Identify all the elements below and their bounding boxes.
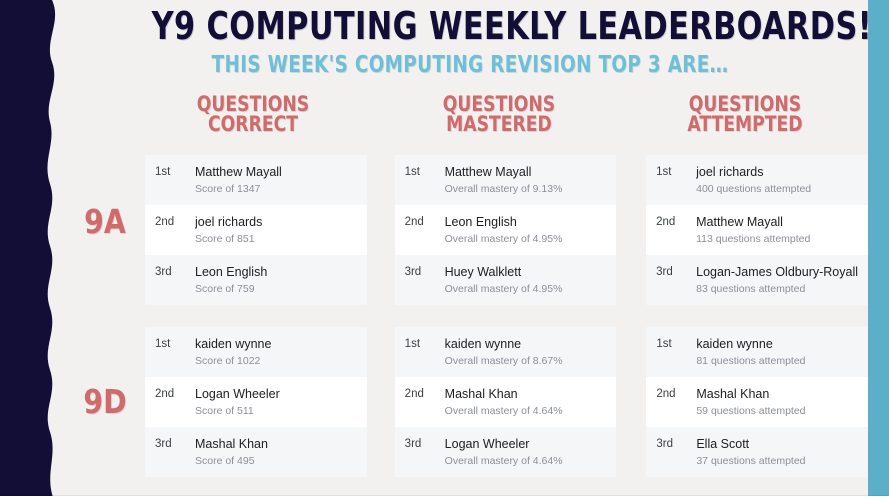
column-header-questions-mastered: QUESTIONS MASTERED bbox=[398, 94, 600, 135]
rank: 3rd bbox=[656, 436, 696, 452]
entry: Matthew Mayall Overall mastery of 9.13% bbox=[445, 164, 607, 196]
entry: kaiden wynne Overall mastery of 8.67% bbox=[445, 336, 607, 368]
student-metric: Score of 759 bbox=[195, 282, 357, 296]
student-metric: Overall mastery of 4.95% bbox=[445, 282, 607, 296]
entry: Leon English Score of 759 bbox=[195, 264, 357, 296]
rank: 1st bbox=[405, 164, 445, 180]
column-header-line2: ATTEMPTED bbox=[644, 114, 846, 135]
student-name: Logan-James Oldbury-Royall bbox=[696, 264, 858, 280]
table-row[interactable]: 2nd Matthew Mayall 113 questions attempt… bbox=[646, 205, 868, 255]
student-name: joel richards bbox=[696, 164, 858, 180]
column-header-line2: MASTERED bbox=[398, 114, 600, 135]
rank: 3rd bbox=[405, 436, 445, 452]
table-row[interactable]: 3rd Mashal Khan Score of 495 bbox=[145, 427, 367, 477]
board-9d-questions-correct: 1st kaiden wynne Score of 1022 2nd Logan… bbox=[145, 327, 367, 477]
page-title: Y9 COMPUTING WEEKLY LEADERBOARDS! bbox=[152, 0, 789, 48]
rank: 1st bbox=[405, 336, 445, 352]
student-metric: Overall mastery of 4.64% bbox=[445, 454, 607, 468]
student-name: Matthew Mayall bbox=[195, 164, 357, 180]
leaderboard-slide: Y9 COMPUTING WEEKLY LEADERBOARDS! THIS W… bbox=[0, 0, 889, 500]
table-row[interactable]: 3rd Ella Scott 37 questions attempted bbox=[646, 427, 868, 477]
entry: Matthew Mayall Score of 1347 bbox=[195, 164, 357, 196]
bottom-edge bbox=[0, 496, 889, 500]
table-row[interactable]: 3rd Logan Wheeler Overall mastery of 4.6… bbox=[395, 427, 617, 477]
table-row[interactable]: 1st kaiden wynne 81 questions attempted bbox=[646, 327, 868, 377]
student-metric: Score of 1347 bbox=[195, 182, 357, 196]
entry: Matthew Mayall 113 questions attempted bbox=[696, 214, 858, 246]
entry: Mashal Khan Overall mastery of 4.64% bbox=[445, 386, 607, 418]
student-metric: 81 questions attempted bbox=[696, 354, 858, 368]
wave-decoration-left bbox=[0, 0, 72, 500]
student-metric: Score of 851 bbox=[195, 232, 357, 246]
table-row[interactable]: 1st kaiden wynne Score of 1022 bbox=[145, 327, 367, 377]
rank: 2nd bbox=[656, 386, 696, 402]
title-block: Y9 COMPUTING WEEKLY LEADERBOARDS! THIS W… bbox=[72, 0, 868, 78]
student-metric: 83 questions attempted bbox=[696, 282, 858, 296]
student-metric: Score of 1022 bbox=[195, 354, 357, 368]
student-name: kaiden wynne bbox=[195, 336, 357, 352]
leaderboard-block-9a: 1st Matthew Mayall Score of 1347 2nd joe… bbox=[145, 155, 868, 305]
rank: 1st bbox=[656, 164, 696, 180]
class-label-9a: 9A bbox=[78, 205, 131, 238]
board-9a-questions-correct: 1st Matthew Mayall Score of 1347 2nd joe… bbox=[145, 155, 367, 305]
entry: joel richards 400 questions attempted bbox=[696, 164, 858, 196]
rank: 3rd bbox=[155, 436, 195, 452]
student-name: Mashal Khan bbox=[195, 436, 357, 452]
leaderboard-block-9d: 1st kaiden wynne Score of 1022 2nd Logan… bbox=[145, 327, 868, 477]
rank: 2nd bbox=[155, 386, 195, 402]
student-name: kaiden wynne bbox=[445, 336, 607, 352]
entry: kaiden wynne Score of 1022 bbox=[195, 336, 357, 368]
entry: Logan Wheeler Score of 511 bbox=[195, 386, 357, 418]
student-name: Leon English bbox=[195, 264, 357, 280]
entry: kaiden wynne 81 questions attempted bbox=[696, 336, 858, 368]
student-metric: Overall mastery of 8.67% bbox=[445, 354, 607, 368]
rank: 1st bbox=[155, 336, 195, 352]
rank: 2nd bbox=[656, 214, 696, 230]
table-row[interactable]: 2nd Mashal Khan Overall mastery of 4.64% bbox=[395, 377, 617, 427]
student-metric: Score of 511 bbox=[195, 404, 357, 418]
entry: Ella Scott 37 questions attempted bbox=[696, 436, 858, 468]
board-9a-questions-attempted: 1st joel richards 400 questions attempte… bbox=[646, 155, 868, 305]
table-row[interactable]: 1st joel richards 400 questions attempte… bbox=[646, 155, 868, 205]
student-name: Logan Wheeler bbox=[445, 436, 607, 452]
student-metric: 59 questions attempted bbox=[696, 404, 858, 418]
column-header-questions-attempted: QUESTIONS ATTEMPTED bbox=[644, 94, 846, 135]
table-row[interactable]: 3rd Logan-James Oldbury-Royall 83 questi… bbox=[646, 255, 868, 305]
student-name: Mashal Khan bbox=[445, 386, 607, 402]
student-name: Ella Scott bbox=[696, 436, 858, 452]
rank: 3rd bbox=[155, 264, 195, 280]
student-metric: 113 questions attempted bbox=[696, 232, 858, 246]
column-headers: QUESTIONS CORRECT QUESTIONS MASTERED QUE… bbox=[130, 94, 868, 135]
student-metric: Overall mastery of 4.95% bbox=[445, 232, 607, 246]
rank: 3rd bbox=[656, 264, 696, 280]
table-row[interactable]: 2nd Mashal Khan 59 questions attempted bbox=[646, 377, 868, 427]
table-row[interactable]: 2nd Logan Wheeler Score of 511 bbox=[145, 377, 367, 427]
entry: Huey Walklett Overall mastery of 4.95% bbox=[445, 264, 607, 296]
rank: 3rd bbox=[405, 264, 445, 280]
student-name: Huey Walklett bbox=[445, 264, 607, 280]
board-9a-questions-mastered: 1st Matthew Mayall Overall mastery of 9.… bbox=[395, 155, 617, 305]
page-subtitle: THIS WEEK'S COMPUTING REVISION TOP 3 ARE… bbox=[152, 48, 789, 78]
student-name: Mashal Khan bbox=[696, 386, 858, 402]
board-9d-questions-attempted: 1st kaiden wynne 81 questions attempted … bbox=[646, 327, 868, 477]
board-9d-questions-mastered: 1st kaiden wynne Overall mastery of 8.67… bbox=[395, 327, 617, 477]
column-header-questions-correct: QUESTIONS CORRECT bbox=[152, 94, 354, 135]
entry: Logan Wheeler Overall mastery of 4.64% bbox=[445, 436, 607, 468]
rank: 2nd bbox=[155, 214, 195, 230]
student-metric: Score of 495 bbox=[195, 454, 357, 468]
entry: Leon English Overall mastery of 4.95% bbox=[445, 214, 607, 246]
student-metric: Overall mastery of 4.64% bbox=[445, 404, 607, 418]
student-name: Matthew Mayall bbox=[445, 164, 607, 180]
rank: 1st bbox=[155, 164, 195, 180]
student-name: joel richards bbox=[195, 214, 357, 230]
student-metric: 37 questions attempted bbox=[696, 454, 858, 468]
column-header-line2: CORRECT bbox=[152, 114, 354, 135]
table-row[interactable]: 1st Matthew Mayall Score of 1347 bbox=[145, 155, 367, 205]
table-row[interactable]: 2nd joel richards Score of 851 bbox=[145, 205, 367, 255]
student-name: Matthew Mayall bbox=[696, 214, 858, 230]
entry: Logan-James Oldbury-Royall 83 questions … bbox=[696, 264, 858, 296]
table-row[interactable]: 1st Matthew Mayall Overall mastery of 9.… bbox=[395, 155, 617, 205]
table-row[interactable]: 1st kaiden wynne Overall mastery of 8.67… bbox=[395, 327, 617, 377]
rank: 1st bbox=[656, 336, 696, 352]
table-row[interactable]: 3rd Huey Walklett Overall mastery of 4.9… bbox=[395, 255, 617, 305]
entry: Mashal Khan 59 questions attempted bbox=[696, 386, 858, 418]
entry: Mashal Khan Score of 495 bbox=[195, 436, 357, 468]
student-metric: 400 questions attempted bbox=[696, 182, 858, 196]
rank: 2nd bbox=[405, 386, 445, 402]
student-metric: Overall mastery of 9.13% bbox=[445, 182, 607, 196]
entry: joel richards Score of 851 bbox=[195, 214, 357, 246]
accent-bar-right bbox=[868, 0, 889, 500]
student-name: Leon English bbox=[445, 214, 607, 230]
student-name: kaiden wynne bbox=[696, 336, 858, 352]
table-row[interactable]: 3rd Leon English Score of 759 bbox=[145, 255, 367, 305]
student-name: Logan Wheeler bbox=[195, 386, 357, 402]
table-row[interactable]: 2nd Leon English Overall mastery of 4.95… bbox=[395, 205, 617, 255]
rank: 2nd bbox=[405, 214, 445, 230]
class-label-9d: 9D bbox=[78, 385, 131, 418]
